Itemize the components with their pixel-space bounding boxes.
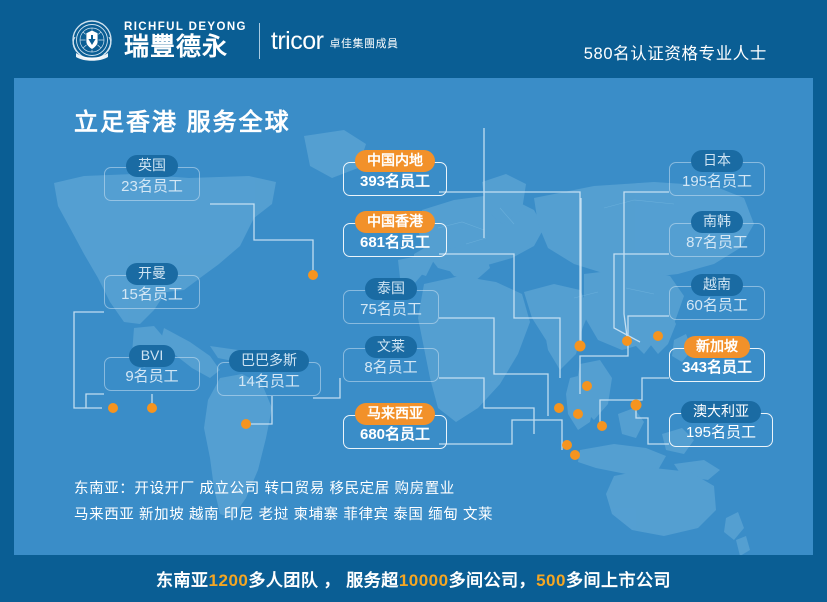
location-label[interactable]: 南韩87名员工 [669,211,765,257]
location-label[interactable]: 文莱8名员工 [343,336,439,382]
crest-shield-icon [68,19,116,63]
location-label[interactable]: 巴巴多斯14名员工 [217,350,321,396]
services-line-1: 东南亚：开设开厂 成立公司 转口贸易 移民定居 购房置业 [74,476,493,502]
services-lists: 东南亚：开设开厂 成立公司 转口贸易 移民定居 购房置业 马来西亚 新加坡 越南… [74,476,493,528]
footer-number-companies: 10000 [399,571,449,590]
tricor-logo: tricor 卓佳集團成員 [271,28,399,54]
location-label[interactable]: 马来西亚680名员工 [343,403,447,449]
location-label[interactable]: 越南60名员工 [669,274,765,320]
footer-number-listed: 500 [536,571,566,590]
location-name: 中国香港 [355,211,435,233]
header-tagline: 580名认证资格专业人士 [584,40,767,64]
location-name: 文莱 [365,336,417,358]
footer-seg-3: 多间公司， [449,571,537,590]
location-label[interactable]: 日本195名员工 [669,150,765,196]
location-label[interactable]: 泰国75名员工 [343,278,439,324]
location-name: 新加坡 [684,336,750,358]
header-bar: RICHFUL DEYONG 瑞豐德永 tricor 卓佳集團成員 580名认证… [0,0,827,78]
location-name: 开曼 [126,263,178,285]
location-name: 南韩 [691,211,743,233]
location-label[interactable]: 开曼15名员工 [104,263,200,309]
services-line-2: 马来西亚 新加坡 越南 印尼 老挝 柬埔寨 菲律宾 泰国 缅甸 文莱 [74,502,493,528]
footer-statistics: 东南亚1200多人团队 ， 服务超10000多间公司，500多间上市公司 [156,566,671,591]
footer-bar: 东南亚1200多人团队 ， 服务超10000多间公司，500多间上市公司 [0,555,827,602]
footer-seg-1: 东南亚 [156,571,209,590]
location-name: 中国内地 [355,150,435,172]
logo-wordmark: RICHFUL DEYONG 瑞豐德永 [124,21,247,61]
location-name: BVI [129,345,176,367]
location-name: 英国 [126,155,178,177]
footer-seg-4: 多间上市公司 [566,571,671,590]
tricor-name: tricor [271,28,324,54]
location-label[interactable]: 中国内地393名员工 [343,150,447,196]
location-label[interactable]: 澳大利亚195名员工 [669,401,773,447]
logo-chinese-name: 瑞豐德永 [124,34,247,61]
location-name: 马来西亚 [355,403,435,425]
location-name: 越南 [691,274,743,296]
location-label[interactable]: 新加坡343名员工 [669,336,765,382]
location-name: 日本 [691,150,743,172]
location-label[interactable]: 中国香港681名员工 [343,211,447,257]
footer-number-team: 1200 [209,571,249,590]
footer-seg-2: 多人团队 ， 服务超 [248,571,398,590]
location-name: 巴巴多斯 [229,350,309,372]
brand-logo: RICHFUL DEYONG 瑞豐德永 tricor 卓佳集團成員 [68,18,398,64]
location-label[interactable]: BVI9名员工 [104,345,200,391]
location-name: 澳大利亚 [681,401,761,423]
tricor-subtitle: 卓佳集團成員 [329,35,398,51]
main-panel: 立足香港 服务全球 [14,78,813,555]
logo-divider [259,23,260,59]
infographic-page: RICHFUL DEYONG 瑞豐德永 tricor 卓佳集團成員 580名认证… [0,0,827,602]
location-label[interactable]: 英国23名员工 [104,155,200,201]
location-name: 泰国 [365,278,417,300]
